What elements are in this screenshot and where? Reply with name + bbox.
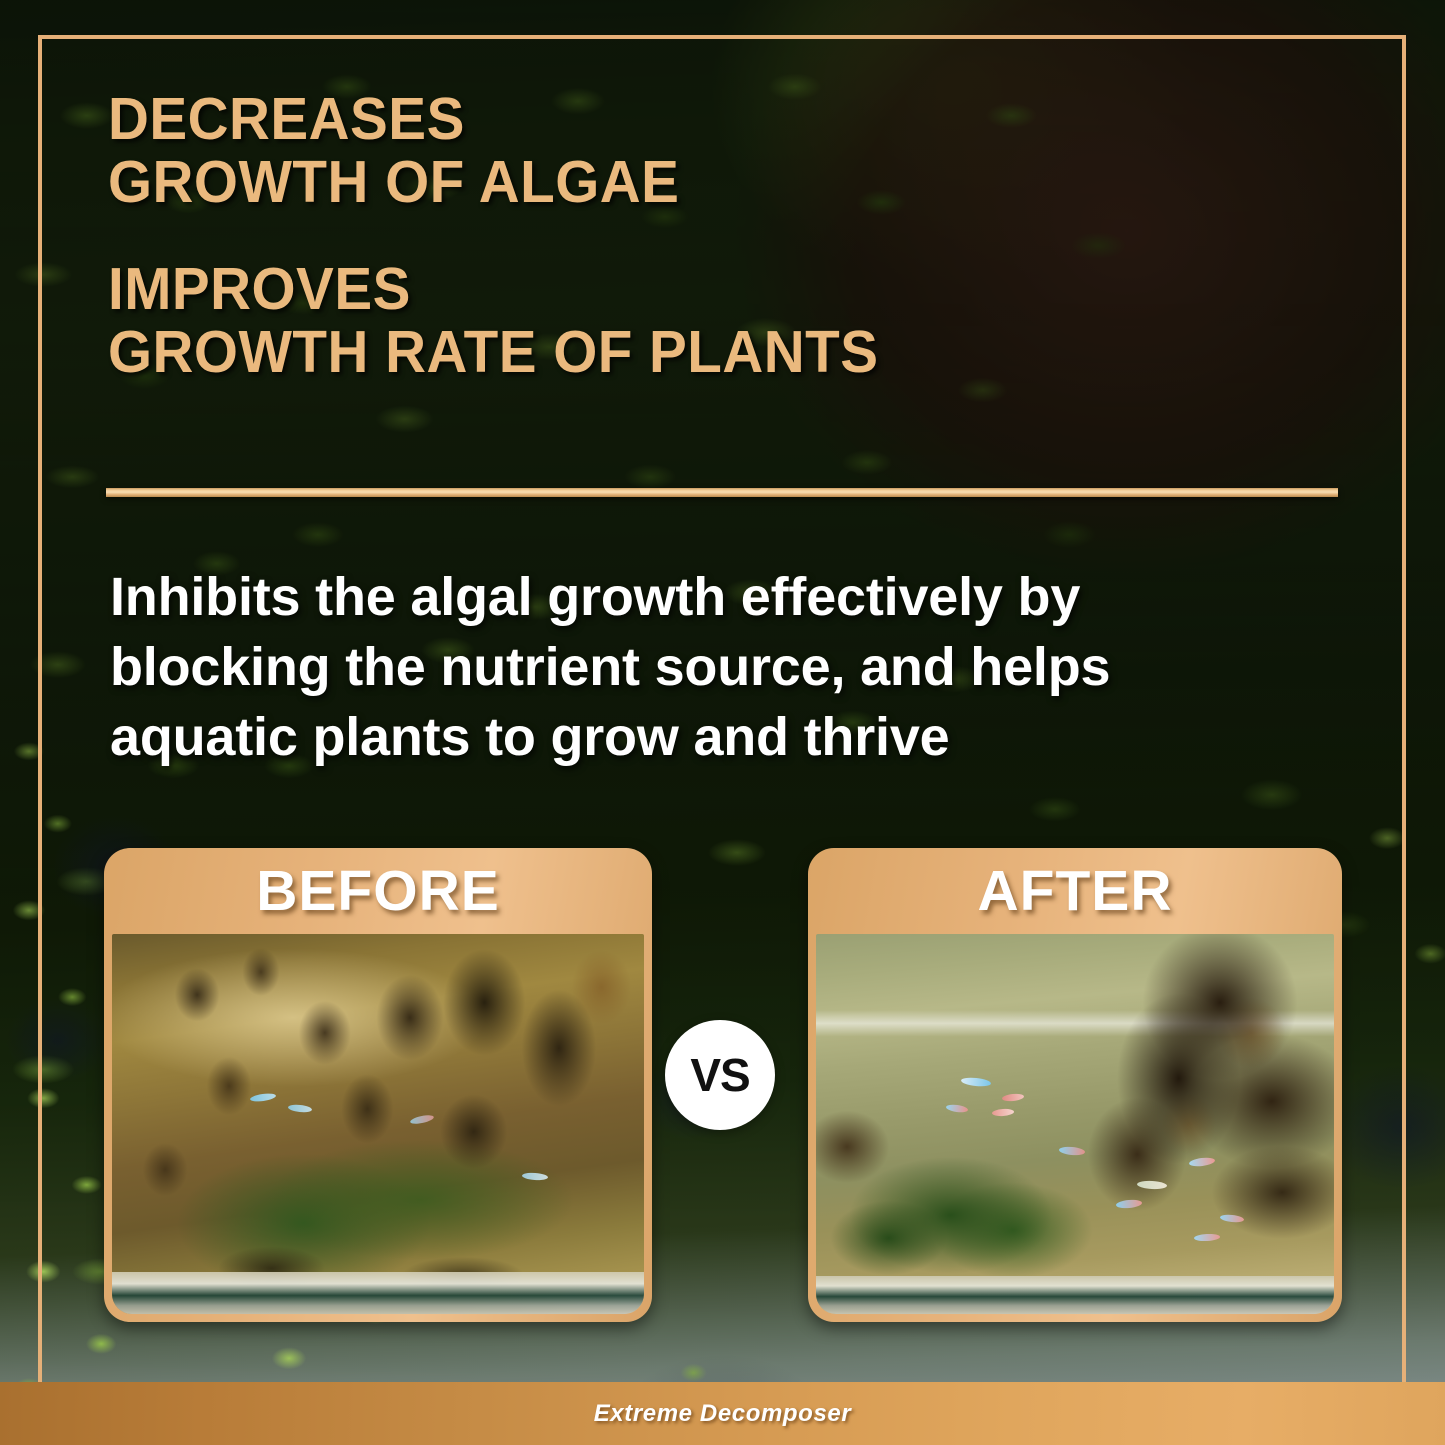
product-benefit-card: DECREASES GROWTH OF ALGAE IMPROVES GROWT… xyxy=(0,0,1445,1445)
after-aquarium-photo xyxy=(816,934,1334,1314)
fish-icon xyxy=(1194,1234,1220,1242)
fish-icon xyxy=(1116,1199,1143,1209)
fish-icon xyxy=(287,1104,312,1113)
fish-icon xyxy=(1002,1092,1025,1101)
fish-icon xyxy=(1220,1214,1245,1223)
after-panel: AFTER xyxy=(808,848,1342,1322)
after-label: AFTER xyxy=(816,848,1334,934)
fish-icon xyxy=(521,1172,547,1181)
fish-icon xyxy=(409,1114,434,1126)
fish-icon xyxy=(1059,1146,1086,1156)
before-panel: BEFORE xyxy=(104,848,652,1322)
gold-divider-line xyxy=(106,488,1338,497)
fish-icon xyxy=(945,1104,968,1114)
fish-icon xyxy=(961,1077,992,1088)
product-name: Extreme Decomposer xyxy=(594,1400,852,1428)
before-aquarium-photo xyxy=(112,934,644,1314)
fish-icon xyxy=(250,1092,277,1103)
footer-banner: Extreme Decomposer xyxy=(0,1382,1445,1445)
vs-badge: VS xyxy=(665,1020,775,1130)
headline-block: DECREASES GROWTH OF ALGAE IMPROVES GROWT… xyxy=(108,88,1228,385)
before-label: BEFORE xyxy=(112,848,644,934)
description-paragraph: Inhibits the algal growth effectively by… xyxy=(110,562,1310,773)
fish-icon xyxy=(1189,1157,1216,1168)
headline-decreases-algae: DECREASES GROWTH OF ALGAE xyxy=(108,88,1183,214)
headline-improves-plant-growth: IMPROVES GROWTH RATE OF PLANTS xyxy=(108,258,1183,384)
fish-icon xyxy=(992,1108,1014,1117)
fish-icon xyxy=(1137,1180,1167,1190)
